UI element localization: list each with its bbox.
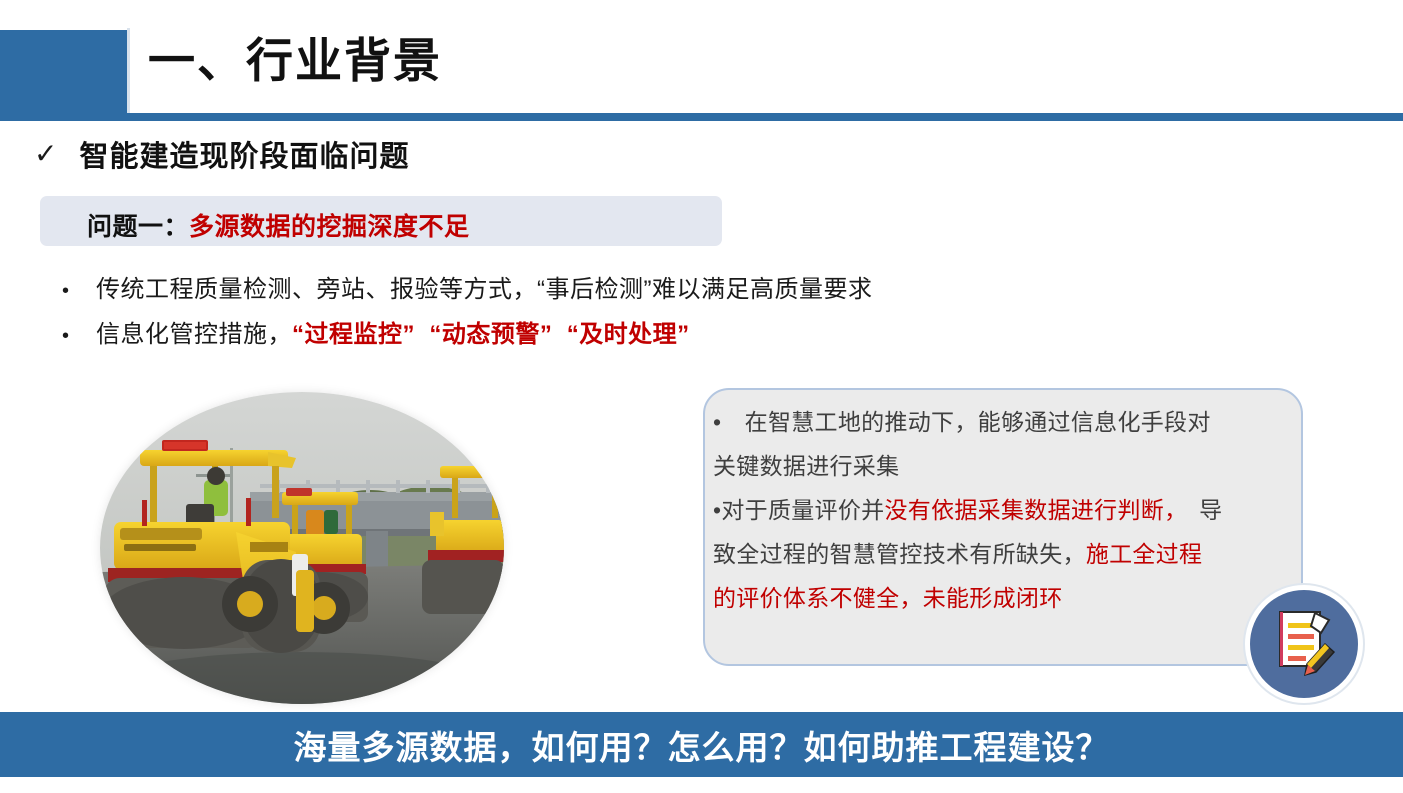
commentary-line-3: •对于质量评价并没有依据采集数据进行判断， 导 <box>713 488 1297 532</box>
commentary-line-2: 关键数据进行采集 <box>713 444 1297 488</box>
header-notch <box>127 28 130 114</box>
bullet-lead-2: 信息化管控措施， <box>96 314 292 349</box>
bullet-marker-icon: • <box>62 325 96 348</box>
document-with-pencil-icon <box>1243 583 1365 705</box>
bullet-marker-icon: • <box>62 280 96 303</box>
commentary-line-1: • 在智慧工地的推动下，能够通过信息化手段对 <box>713 400 1297 444</box>
commentary-line-5-text: 的评价体系不健全，未能形成闭环 <box>713 585 1063 611</box>
road-roller-photo <box>100 392 504 704</box>
commentary-line-3-c: 导 <box>1176 497 1223 523</box>
bullet-term-1: “过程监控” <box>292 314 415 349</box>
slide-canvas: 一、行业背景 ✓ 智能建造现阶段面临问题 问题一：多源数据的挖掘深度不足 • 传… <box>0 0 1403 793</box>
problem-key: 问题一： <box>87 213 189 241</box>
bottom-banner-text: 海量多源数据，如何用？怎么用？如何助推工程建设？ <box>0 712 1403 777</box>
bullet-term-2: “动态预警” <box>429 314 552 349</box>
header-accent-block <box>0 30 127 114</box>
problem-box: 问题一：多源数据的挖掘深度不足 <box>40 196 722 246</box>
commentary-line-2-text: 关键数据进行采集 <box>713 453 899 479</box>
problem-text: 问题一：多源数据的挖掘深度不足 <box>87 207 470 243</box>
commentary-line-1-text: 在智慧工地的推动下，能够通过信息化手段对 <box>721 409 1210 435</box>
commentary-body: • 在智慧工地的推动下，能够通过信息化手段对 关键数据进行采集 •对于质量评价并… <box>713 400 1297 620</box>
section-heading: ✓ 智能建造现阶段面临问题 <box>34 133 409 175</box>
commentary-line-4: 致全过程的智慧管控技术有所缺失，施工全过程 <box>713 532 1297 576</box>
header-rule <box>0 113 1403 121</box>
bottom-banner: 海量多源数据，如何用？怎么用？如何助推工程建设？ <box>0 712 1403 777</box>
bullet-item-2: • 信息化管控措施， “过程监控” “动态预警” “及时处理” <box>62 314 690 349</box>
commentary-line-5: 的评价体系不健全，未能形成闭环 <box>713 576 1297 620</box>
commentary-line-3-a: 对于质量评价并 <box>721 497 884 523</box>
commentary-line-4-b: 施工全过程 <box>1086 541 1203 567</box>
commentary-line-3-b: 没有依据采集数据进行判断， <box>884 497 1175 523</box>
section-heading-label: 智能建造现阶段面临问题 <box>79 133 409 175</box>
bullet-term-3: “及时处理” <box>567 314 690 349</box>
icon-glyph <box>1271 608 1341 680</box>
commentary-text-box: • 在智慧工地的推动下，能够通过信息化手段对 关键数据进行采集 •对于质量评价并… <box>703 388 1303 666</box>
commentary-line-4-a: 致全过程的智慧管控技术有所缺失， <box>713 541 1086 567</box>
check-icon: ✓ <box>34 140 57 168</box>
bullet-text-1: 传统工程质量检测、旁站、报验等方式，“事后检测”难以满足高质量要求 <box>96 269 872 304</box>
problem-value: 多源数据的挖掘深度不足 <box>189 213 470 241</box>
bullet-item-1: • 传统工程质量检测、旁站、报验等方式，“事后检测”难以满足高质量要求 <box>62 269 872 304</box>
page-title: 一、行业背景 <box>148 34 442 88</box>
